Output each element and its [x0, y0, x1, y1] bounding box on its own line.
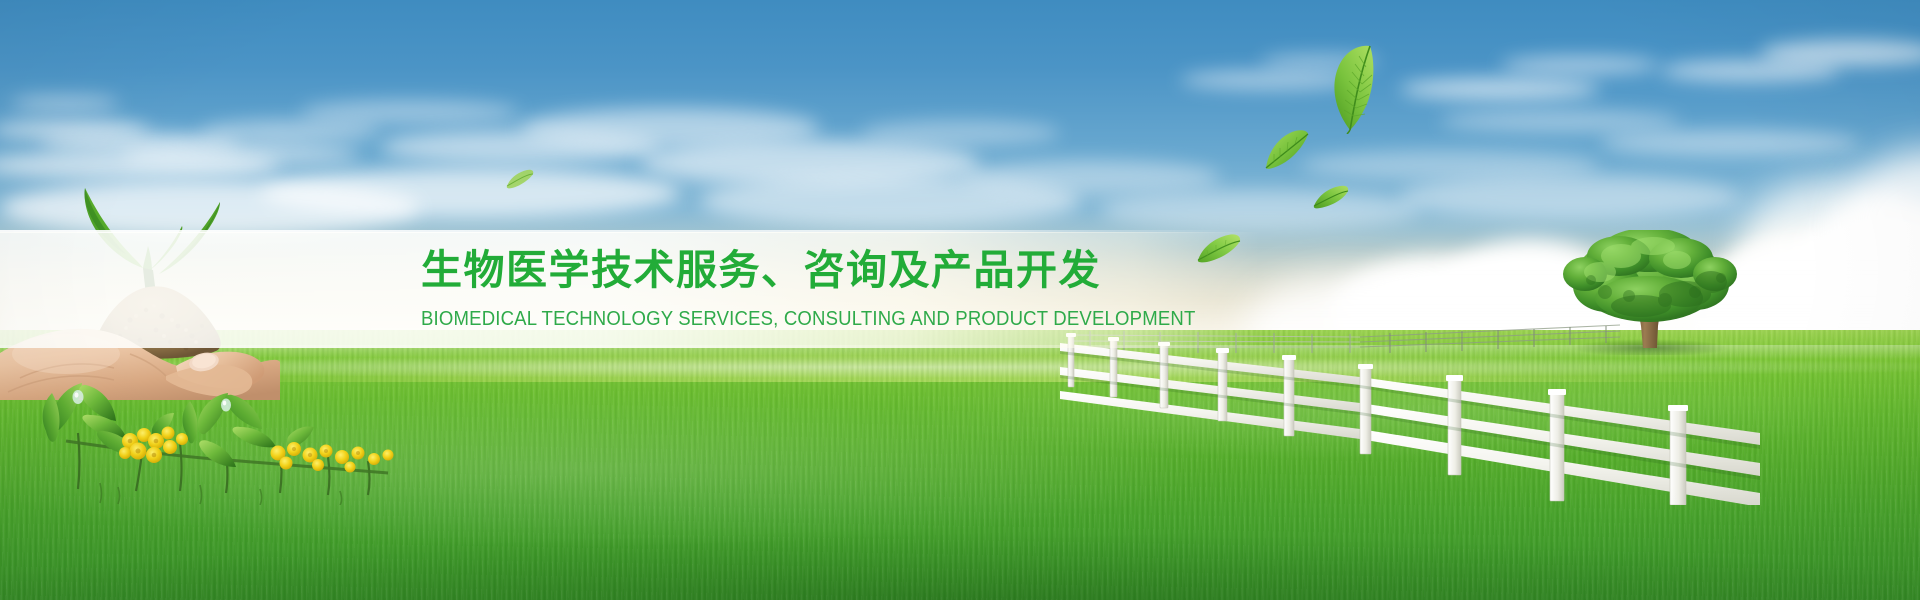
hero-banner: 生物医学技术服务、咨询及产品开发 BIOMEDICAL TECHNOLOGY S… [0, 0, 1920, 600]
floating-leaf-large [1320, 42, 1380, 139]
page-subtitle: BIOMEDICAL TECHNOLOGY SERVICES, CONSULTI… [421, 304, 1163, 334]
floating-leaf-medium [1262, 126, 1310, 177]
floating-leaf-small [1312, 184, 1350, 215]
floating-leaf-above-title [505, 168, 535, 195]
title-block: 生物医学技术服务、咨询及产品开发 BIOMEDICAL TECHNOLOGY S… [421, 245, 1241, 334]
page-title: 生物医学技术服务、咨询及产品开发 [421, 245, 1241, 295]
yellow-flowers [30, 375, 430, 505]
